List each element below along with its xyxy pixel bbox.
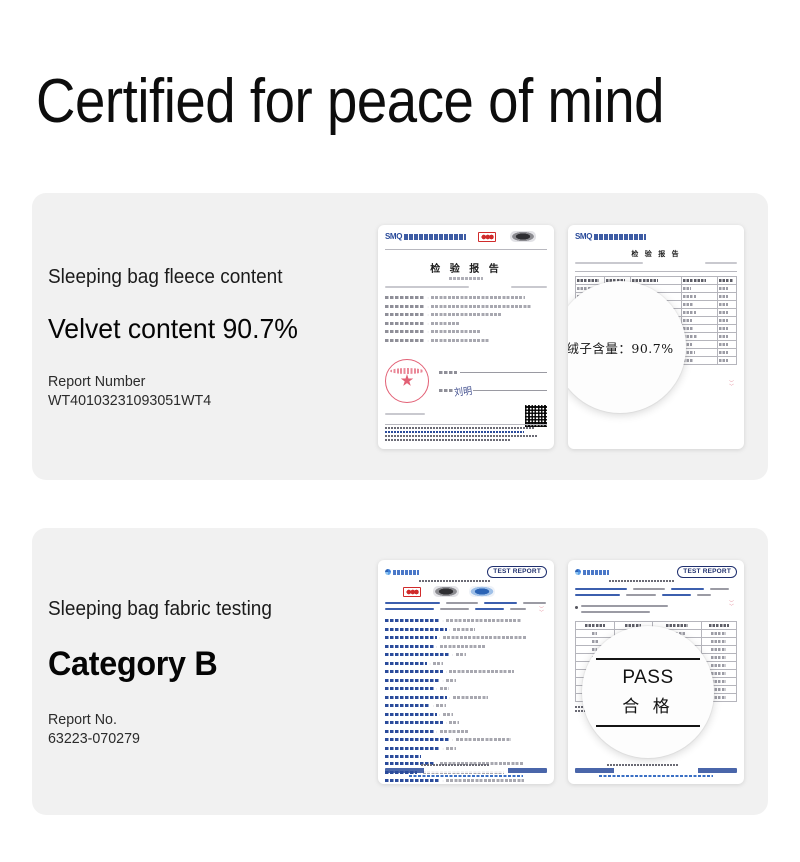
lens-rule-top xyxy=(596,658,700,660)
doc-field-row: : xyxy=(385,746,547,751)
footer-bar xyxy=(575,768,737,773)
doc-field-row: : xyxy=(385,720,547,725)
footer-bar xyxy=(385,768,547,773)
document-thumb-eurofins-page1[interactable]: TEST REPORT xyxy=(378,560,554,784)
card-text-block-fabric: Sleeping bag fabric testing Category B R… xyxy=(48,528,388,815)
card-text-block-fleece: Sleeping bag fleece content Velvet conte… xyxy=(48,193,388,480)
signature: 刘明 xyxy=(453,382,472,399)
report-number-block: Report No. 63223-070279 xyxy=(48,710,371,748)
document-thumb-smq-page2[interactable]: SMQ 检 验 报 告 xyxy=(568,225,744,449)
eurofins-wordmark xyxy=(583,570,609,575)
eurofins-logo xyxy=(385,569,419,575)
eurofins-wordmark xyxy=(393,570,419,575)
doc-field-row: : xyxy=(385,644,547,649)
doc-field-row: : xyxy=(385,712,547,717)
cnas-badge-icon xyxy=(510,231,536,242)
footer-link[interactable] xyxy=(599,775,712,777)
doc-field-row: : xyxy=(385,737,547,742)
doc-field-row: : xyxy=(385,652,547,657)
test-report-stamp: TEST REPORT xyxy=(487,566,547,578)
lab-name-cn xyxy=(594,234,646,240)
smq-logo: SMQ xyxy=(385,233,402,241)
card-subtitle: Sleeping bag fabric testing xyxy=(48,596,371,622)
magnifier-lens-pass-result: PASS 合 格 xyxy=(582,626,714,758)
footer-link[interactable] xyxy=(409,775,522,777)
doc-field-row: : xyxy=(385,312,547,317)
doc-field-row: : xyxy=(385,627,547,632)
doc-field-row: : xyxy=(385,329,547,334)
doc-field-row: : xyxy=(385,635,547,640)
red-side-note: 〉〉 xyxy=(538,606,545,616)
doc-field-row: : xyxy=(385,686,547,691)
eurofins-logo xyxy=(575,569,609,575)
page-title: Certified for peace of mind xyxy=(36,68,664,136)
document-thumbnails-fabric: TEST REPORT xyxy=(378,528,768,815)
lens-text-en: PASS xyxy=(622,667,673,689)
document-thumbnails-fleece: SMQ 检 验 报 告 : : xyxy=(378,193,768,480)
cma-badge-icon xyxy=(403,587,421,597)
report-number-label: Report No. xyxy=(48,710,371,729)
accreditation-badge-icon xyxy=(469,586,495,597)
card-headline: Velvet content 90.7% xyxy=(48,312,371,346)
doc-field-row: : xyxy=(385,295,547,300)
red-side-note: 〉〉 xyxy=(728,380,735,390)
card-headline: Category B xyxy=(48,644,371,684)
doc-field-row: : xyxy=(385,669,547,674)
document-thumb-smq-page1[interactable]: SMQ 检 验 报 告 : : xyxy=(378,225,554,449)
eurofins-dot-icon xyxy=(385,569,391,575)
header-divider xyxy=(385,249,547,250)
doc-field-row: : xyxy=(385,338,547,343)
doc-field-row: : xyxy=(385,729,547,734)
doc-field-row: : xyxy=(385,678,547,683)
doc-field-row: : xyxy=(385,618,547,623)
doc-field-row: : xyxy=(385,661,547,666)
certificate-card-fabric: Sleeping bag fabric testing Category B R… xyxy=(32,528,768,815)
certificate-card-fleece: Sleeping bag fleece content Velvet conte… xyxy=(32,193,768,480)
red-round-stamp-icon xyxy=(385,359,429,403)
lens-text: 绒子含量：90.7% xyxy=(568,338,674,357)
cma-badge-icon xyxy=(478,232,496,242)
lens-text-cn: 合 格 xyxy=(622,692,673,717)
document-subtitle-code xyxy=(449,277,483,280)
report-number-label: Report Number xyxy=(48,372,371,391)
card-subtitle: Sleeping bag fleece content xyxy=(48,264,371,290)
document-header-row: SMQ xyxy=(385,231,547,242)
eurofins-dot-icon xyxy=(575,569,581,575)
doc-field-row: : xyxy=(385,321,547,326)
report-number-block: Report Number WT40103231093051WT4 xyxy=(48,372,371,410)
lens-rule-bottom xyxy=(596,725,700,727)
smq-logo: SMQ xyxy=(575,233,592,241)
document-title-cn: 检 验 报 告 xyxy=(385,260,547,275)
doc-field-row: : xyxy=(385,703,547,708)
lab-name-cn xyxy=(404,234,466,240)
test-report-stamp: TEST REPORT xyxy=(677,566,737,578)
report-number-value: WT40103231093051WT4 xyxy=(48,391,371,410)
document-title-cn: 检 验 报 告 xyxy=(575,249,737,259)
document-thumb-eurofins-page2[interactable]: TEST REPORT xyxy=(568,560,744,784)
cnas-badge-icon xyxy=(433,586,459,597)
doc-field-row: : xyxy=(385,695,547,700)
red-side-note: 〉〉 xyxy=(728,600,735,610)
report-number-value: 63223-070279 xyxy=(48,729,371,748)
document-header-row: SMQ xyxy=(575,231,737,242)
doc-field-row: : xyxy=(385,304,547,309)
